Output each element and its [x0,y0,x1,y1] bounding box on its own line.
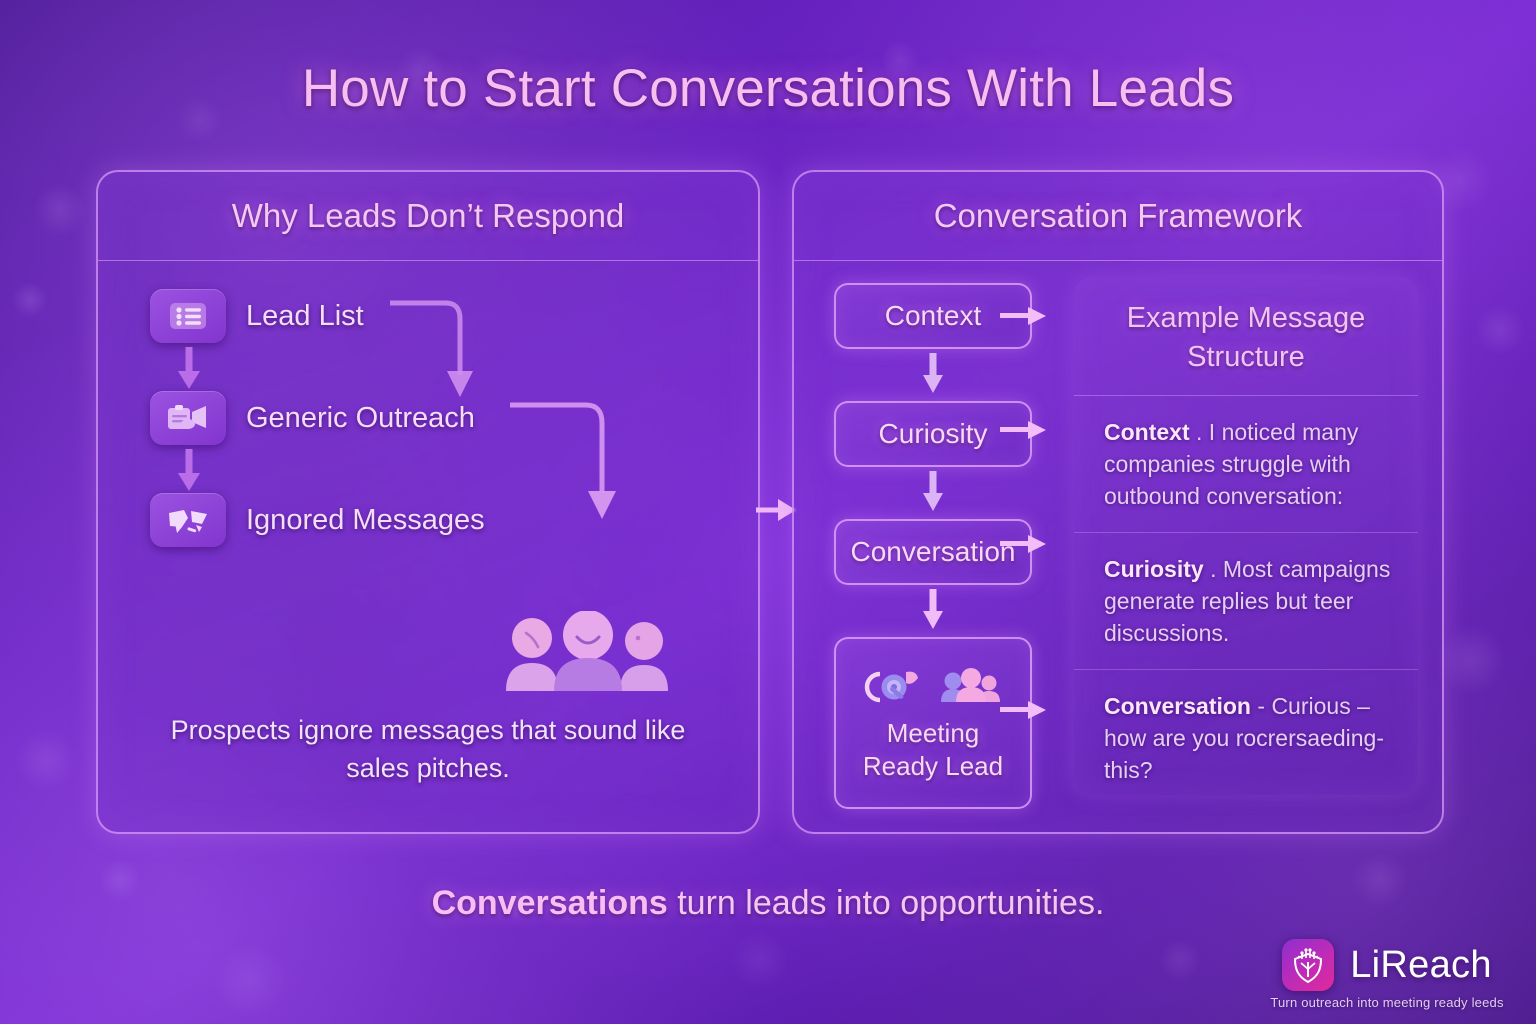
example-item-text: Curiosity . Most campaigns generate repl… [1104,553,1392,649]
down-arrow-icon [176,449,202,493]
brand-lockup: LiReach Turn outreach into meeting ready… [1252,939,1522,1010]
target-icon [864,668,924,711]
example-item-separator: . [1190,419,1209,445]
brand-tagline: Turn outreach into meeting ready leeds [1252,995,1522,1010]
right-panel-header: Conversation Framework [794,172,1442,261]
broken-message-icon [150,493,226,547]
meeting-label-line2: Ready Lead [863,751,1003,781]
right-panel-title: Conversation Framework [934,197,1303,235]
example-item-separator: . [1204,556,1223,582]
step-gap [834,585,1032,637]
step-gap [834,349,1032,401]
example-item-term: Curiosity [1104,556,1204,582]
step-to-example-arrow-icon [1000,417,1048,443]
framework-step-label: Conversation [851,536,1016,568]
down-arrow-icon [176,347,202,391]
step-to-example-arrow-icon [1000,531,1048,557]
curved-arrow-icon [508,397,648,532]
example-item-separator: - [1251,693,1271,719]
example-item-curiosity: Curiosity . Most campaigns generate repl… [1074,533,1418,670]
framework-step-label: Context [885,300,982,332]
example-card-title: Example Message Structure [1074,277,1418,396]
footer-tagline-rest: turn leads into opportunities. [668,884,1105,922]
footer-tagline: Conversations turn leads into opportunit… [0,884,1536,923]
example-message-structure-card: Example Message Structure Context . I no… [1074,277,1418,795]
step-gap [834,467,1032,519]
flow-step-label: Lead List [246,300,364,333]
footer-tagline-strong: Conversations [432,884,668,922]
panel-why-leads-dont-respond: Why Leads Don’t Respond Lead List [96,170,760,834]
down-arrow-icon [921,353,945,395]
brand-name: LiReach [1350,944,1492,987]
meeting-step-icons [864,668,1002,711]
flow-step-ignored-messages: Ignored Messages [150,493,485,547]
step-to-example-arrow-icon [1000,303,1048,329]
meeting-label-line1: Meeting [887,718,980,748]
example-item-context: Context . I noticed many companies strug… [1074,396,1418,533]
step-to-example-arrow-icon [1000,697,1048,723]
flow-step-lead-list: Lead List [150,289,364,343]
left-panel-caption: Prospects ignore messages that sound lik… [98,711,758,787]
left-panel-header: Why Leads Don’t Respond [98,172,758,261]
framework-step-label: Meeting Ready Lead [863,717,1003,783]
people-group-icon [498,611,678,693]
shield-crest-icon [1282,939,1334,991]
example-item-text: Conversation - Curious – how are you roc… [1104,690,1392,786]
example-item-term: Conversation [1104,693,1251,719]
example-item-conversation: Conversation - Curious – how are you roc… [1074,670,1418,795]
left-panel-body: Lead List [98,261,758,831]
down-arrow-icon [921,589,945,631]
brand-row: LiReach [1252,939,1522,991]
right-panel-body: Context Curiosity [794,261,1442,831]
megaphone-clipboard-icon [150,391,226,445]
people-icon [938,668,1002,711]
page-title: How to Start Conversations With Leads [0,58,1536,119]
list-icon [150,289,226,343]
left-panel-title: Why Leads Don’t Respond [232,197,625,235]
down-arrow-icon [921,471,945,513]
panel-conversation-framework: Conversation Framework Context Curiosit [792,170,1444,834]
infographic-canvas: How to Start Conversations With Leads Wh… [0,0,1536,1024]
example-item-text: Context . I noticed many companies strug… [1104,416,1392,512]
flow-step-label: Ignored Messages [246,504,485,537]
example-item-term: Context [1104,419,1190,445]
curved-arrow-icon [388,295,508,410]
framework-step-label: Curiosity [879,418,988,450]
